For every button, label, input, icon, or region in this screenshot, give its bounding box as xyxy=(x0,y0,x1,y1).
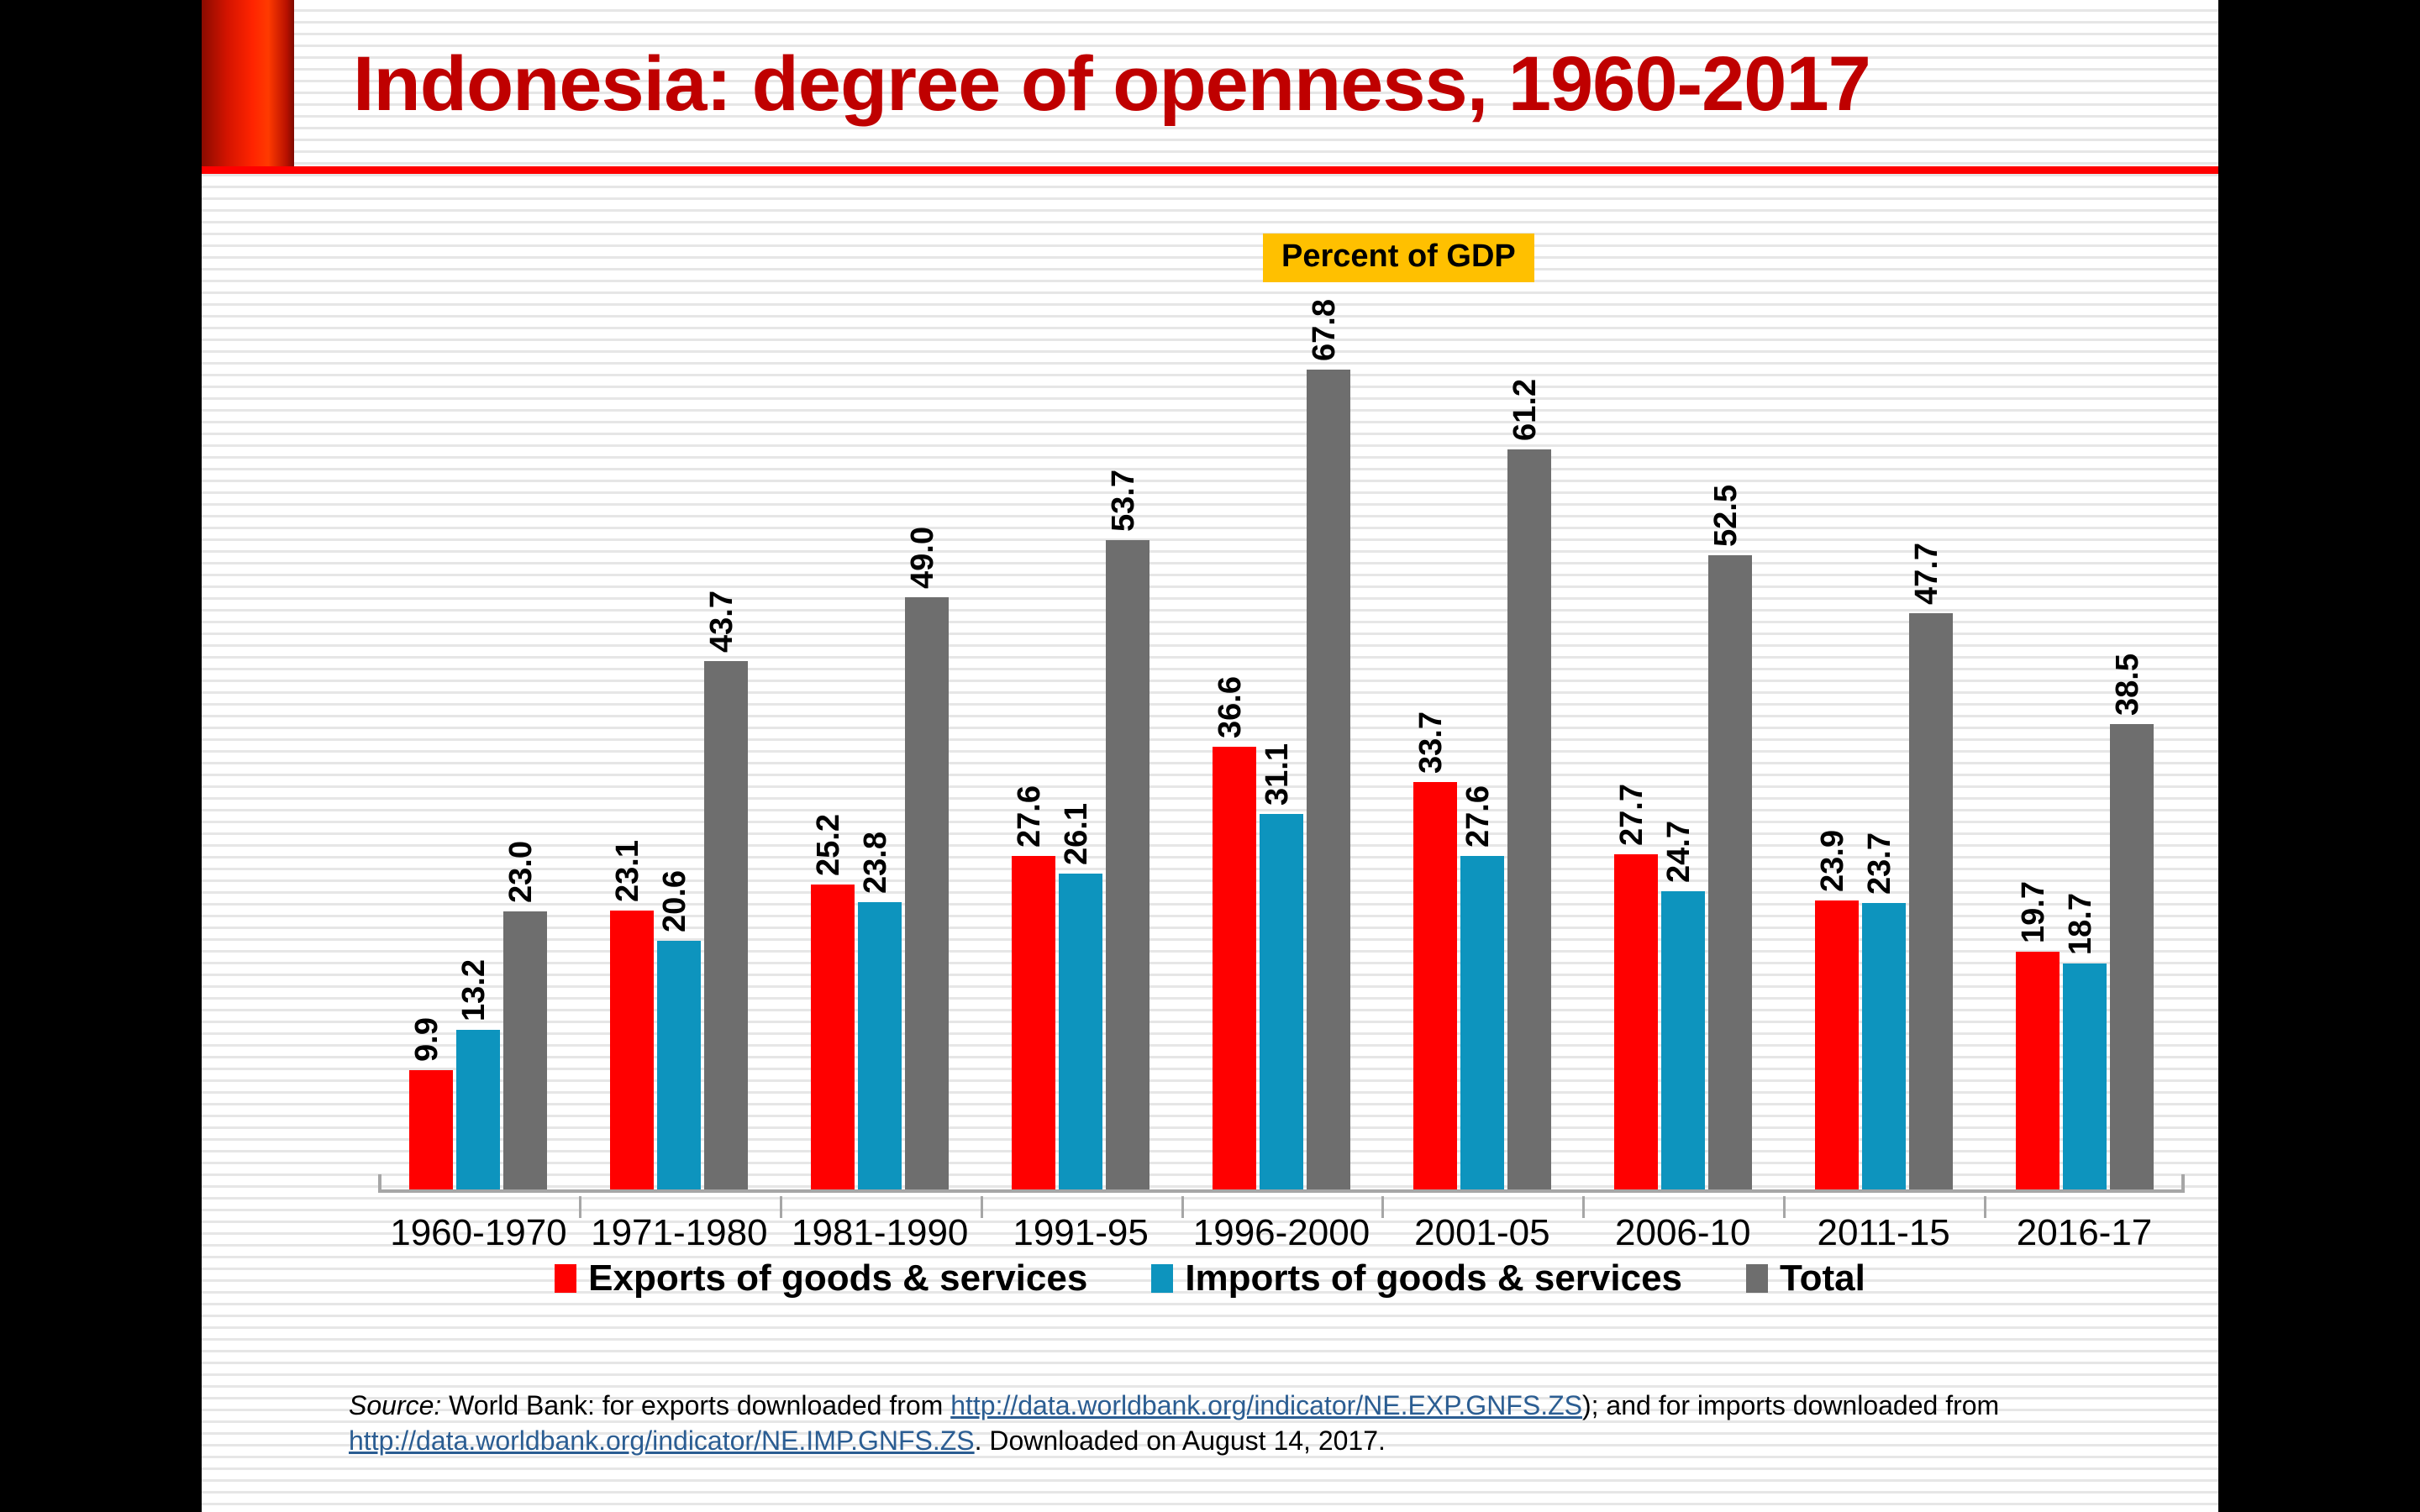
source-link-imports[interactable]: http://data.worldbank.org/indicator/NE.I… xyxy=(349,1425,975,1456)
category-label: 1991-95 xyxy=(981,1215,1181,1252)
chart-bar[interactable]: 27.7 xyxy=(1614,854,1658,1189)
slide-surface: Indonesia: degree of openness, 1960-2017… xyxy=(202,0,2218,1512)
category-label: 2016-17 xyxy=(1984,1215,2185,1252)
chart-bar[interactable]: 33.7 xyxy=(1413,782,1457,1189)
chart-bar[interactable]: 23.0 xyxy=(503,911,547,1189)
bar-group: 27.626.153.7 xyxy=(981,319,1181,1189)
chart-bar[interactable]: 23.8 xyxy=(858,902,902,1189)
chart-bar[interactable]: 25.2 xyxy=(811,885,855,1189)
chart-bar[interactable]: 43.7 xyxy=(704,661,748,1189)
chart-bar[interactable]: 20.6 xyxy=(657,941,701,1189)
chart-bar[interactable]: 31.1 xyxy=(1260,814,1303,1189)
source-link-exports[interactable]: http://data.worldbank.org/indicator/NE.E… xyxy=(950,1390,1582,1420)
title-divider-rule xyxy=(202,166,2218,174)
bar-group: 25.223.849.0 xyxy=(780,319,981,1189)
legend-label: Imports of goods & services xyxy=(1185,1260,1682,1297)
chart-bar[interactable]: 24.7 xyxy=(1661,891,1705,1189)
chart-bar[interactable]: 18.7 xyxy=(2063,963,2107,1189)
title-accent-gradient xyxy=(202,0,294,166)
chart-bar[interactable]: 19.7 xyxy=(2016,952,2060,1189)
source-label: Source: xyxy=(349,1390,441,1420)
source-text-3: . Downloaded on August 14, 2017. xyxy=(975,1425,1386,1456)
chart-subtitle-badge: Percent of GDP xyxy=(1263,234,1534,282)
chart-bar[interactable]: 23.9 xyxy=(1815,900,1859,1189)
chart-bar[interactable]: 23.7 xyxy=(1862,903,1906,1189)
chart-bar[interactable]: 52.5 xyxy=(1708,555,1752,1189)
category-label: 1971-1980 xyxy=(579,1215,780,1252)
legend-item[interactable]: Exports of goods & services xyxy=(555,1260,1087,1297)
legend-item[interactable]: Total xyxy=(1746,1260,1865,1297)
chart-legend: Exports of goods & servicesImports of go… xyxy=(202,1260,2218,1297)
bar-group: 9.913.223.0 xyxy=(378,319,579,1189)
category-axis: 1960-19701971-19801981-19901991-951996-2… xyxy=(378,1196,2185,1255)
chart-bar[interactable]: 38.5 xyxy=(2110,724,2154,1189)
bar-group: 36.631.167.8 xyxy=(1181,319,1382,1189)
category-label: 2006-10 xyxy=(1582,1215,1783,1252)
category-label: 2001-05 xyxy=(1381,1215,1582,1252)
chart-bar[interactable]: 61.2 xyxy=(1507,449,1551,1189)
category-label: 2011-15 xyxy=(1783,1215,1984,1252)
bar-group: 19.718.738.5 xyxy=(1984,319,2185,1189)
chart-bar[interactable]: 23.1 xyxy=(610,911,654,1189)
chart-bar[interactable]: 53.7 xyxy=(1106,540,1149,1189)
chart-bar[interactable]: 26.1 xyxy=(1059,874,1102,1189)
bar-group: 33.727.661.2 xyxy=(1381,319,1582,1189)
slide-stage: Indonesia: degree of openness, 1960-2017… xyxy=(0,0,2420,1512)
legend-item[interactable]: Imports of goods & services xyxy=(1151,1260,1682,1297)
chart-plot-area: 9.913.223.023.120.643.725.223.849.027.62… xyxy=(378,319,2185,1193)
chart-bar[interactable]: 47.7 xyxy=(1909,613,1953,1189)
chart-bar[interactable]: 36.6 xyxy=(1213,747,1256,1189)
letterbox-left xyxy=(0,0,202,1512)
category-label: 1960-1970 xyxy=(378,1215,579,1252)
category-axis-line xyxy=(378,1189,2185,1193)
source-text-1: World Bank: for exports downloaded from xyxy=(441,1390,950,1420)
letterbox-right xyxy=(2218,0,2420,1512)
chart-bar[interactable]: 67.8 xyxy=(1307,370,1350,1189)
chart-bar[interactable]: 27.6 xyxy=(1012,856,1055,1189)
chart-bar[interactable]: 13.2 xyxy=(456,1030,500,1189)
legend-swatch-icon xyxy=(555,1264,576,1293)
legend-label: Exports of goods & services xyxy=(588,1260,1087,1297)
page-title: Indonesia: degree of openness, 1960-2017 xyxy=(353,44,2143,125)
chart-bar[interactable]: 9.9 xyxy=(409,1070,453,1189)
source-note: Source: World Bank: for exports download… xyxy=(349,1388,2130,1458)
legend-swatch-icon xyxy=(1151,1264,1173,1293)
legend-swatch-icon xyxy=(1746,1264,1768,1293)
source-text-2: ); and for imports downloaded from xyxy=(1582,1390,1999,1420)
legend-label: Total xyxy=(1780,1260,1865,1297)
category-label: 1981-1990 xyxy=(780,1215,981,1252)
category-label: 1996-2000 xyxy=(1181,1215,1382,1252)
chart-bar[interactable]: 27.6 xyxy=(1460,856,1504,1189)
bar-group: 23.120.643.7 xyxy=(579,319,780,1189)
chart-bar[interactable]: 49.0 xyxy=(905,597,949,1189)
bar-group: 23.923.747.7 xyxy=(1783,319,1984,1189)
bar-group: 27.724.752.5 xyxy=(1582,319,1783,1189)
